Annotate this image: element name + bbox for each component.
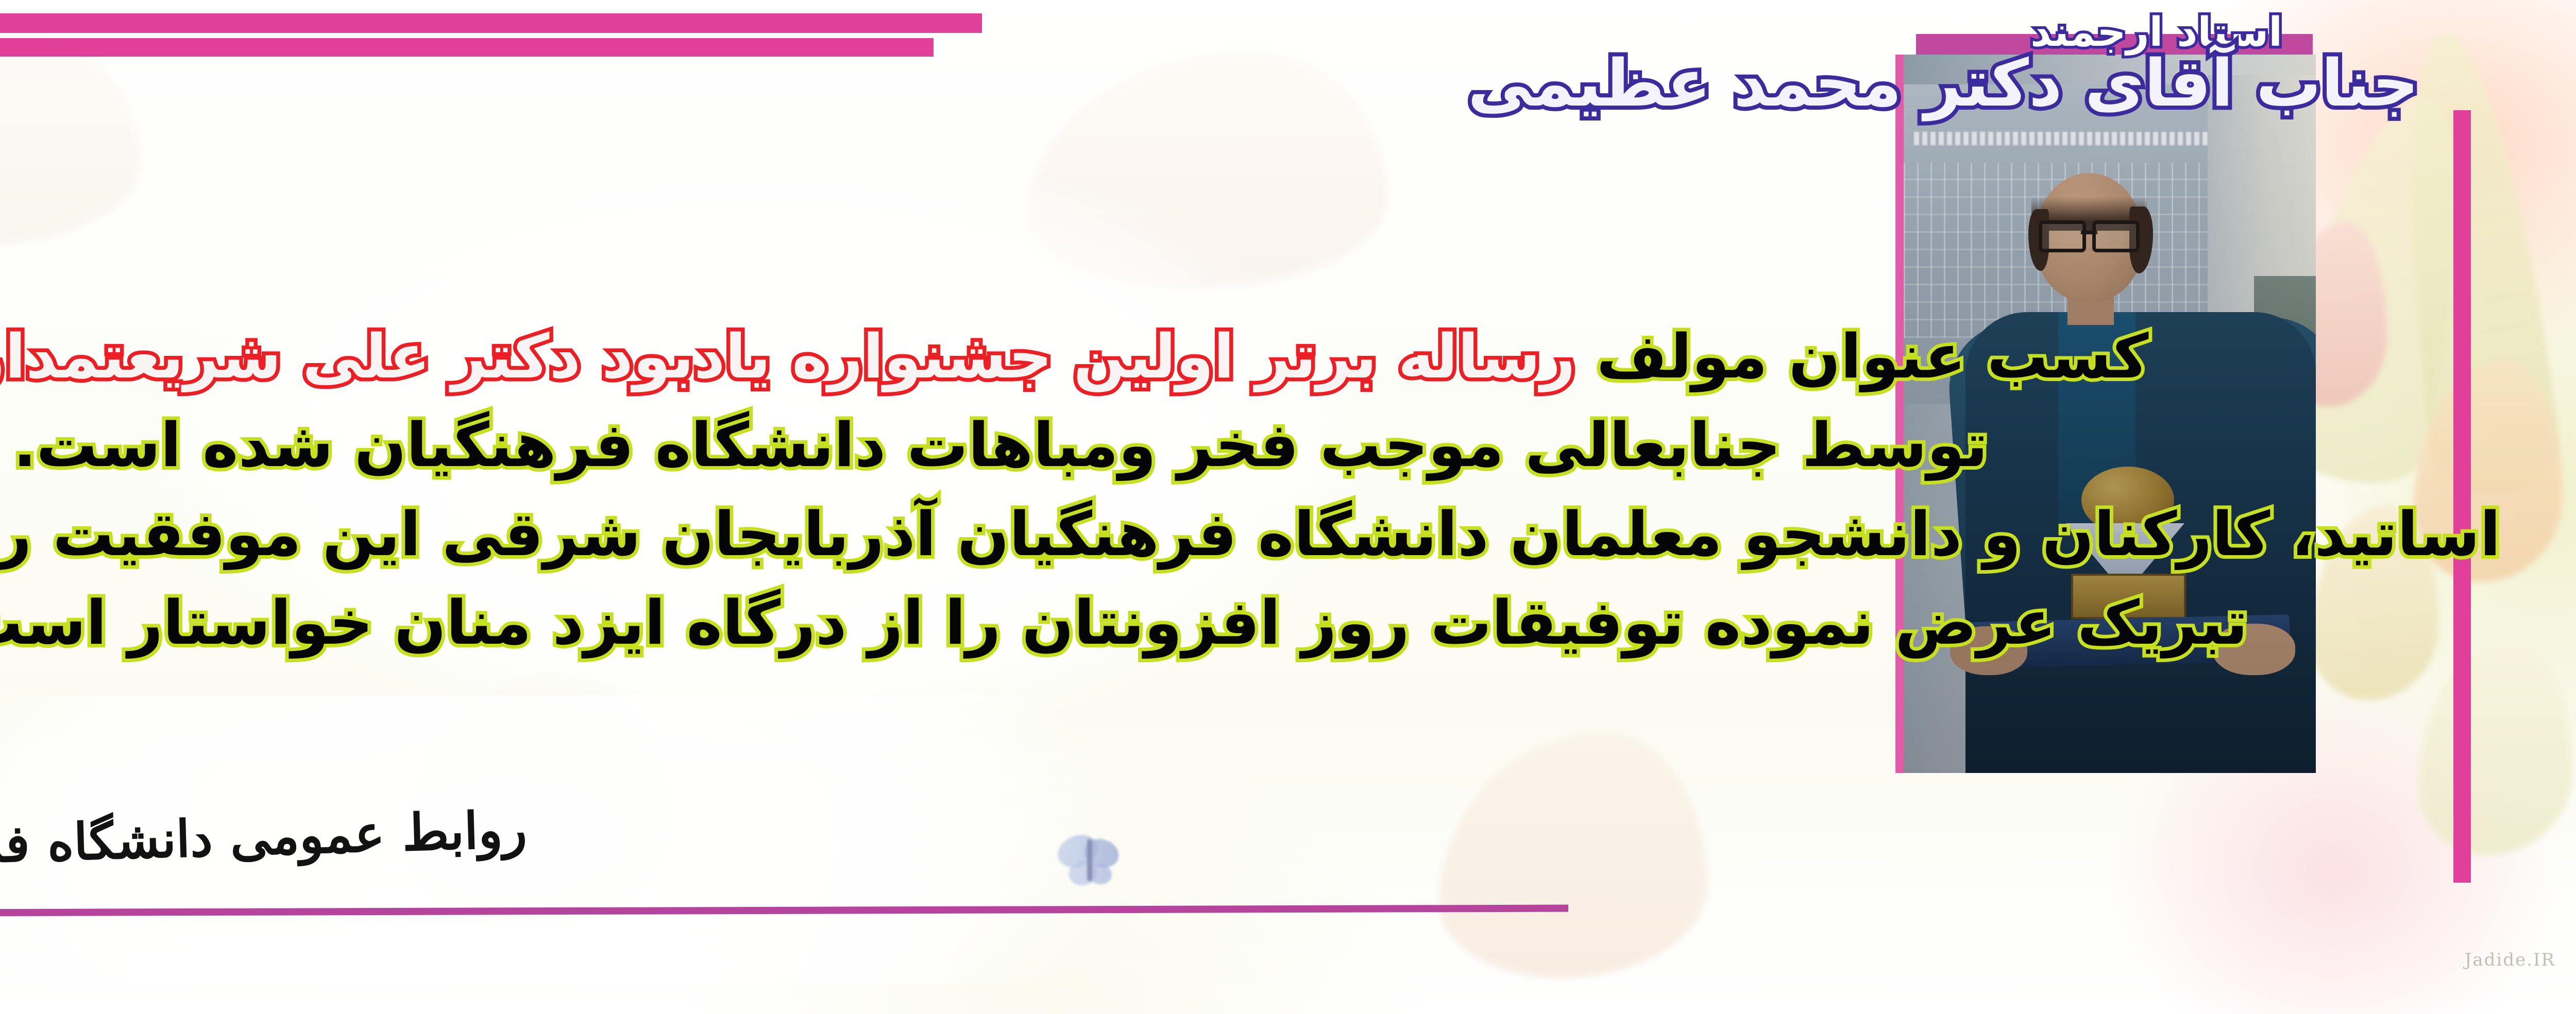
frame-outer-top [0,13,982,33]
body-line-4: تبریک عرض نموده توفیقات روز افزونتان را … [0,578,2576,667]
honoree-name: جناب آقای دکتر محمد عظیمی [1468,45,2419,121]
body-line-1: کسب عنوان مولف رساله برتر اولین جشنواره … [0,312,2576,401]
signature-line: روابط عمومی دانشگاه فرهنگیان آذربایجان ش… [0,800,529,917]
poster-canvas: استاد ارجمند جناب آقای دکتر محمد عظیمی ک… [0,0,2576,1014]
body-text-block: کسب عنوان مولف رساله برتر اولین جشنواره … [0,312,2576,667]
body-line-1-seg-3: اولین جشنواره یادبود دکتر علی شریعتمداری [0,321,1234,392]
body-line-2: توسط جنابعالی موجب فخر ومباهات دانشگاه ف… [0,401,2576,489]
watermark-source: Jadide.IR [2465,950,2555,970]
body-line-3: اساتید، کارکنان و دانشجو معلمان دانشگاه … [0,490,2576,578]
body-line-1-seg-2: رساله برتر [1234,321,1575,392]
frame-inner-top [0,38,934,57]
body-line-1-seg-1: کسب عنوان مولف [1575,321,2149,392]
